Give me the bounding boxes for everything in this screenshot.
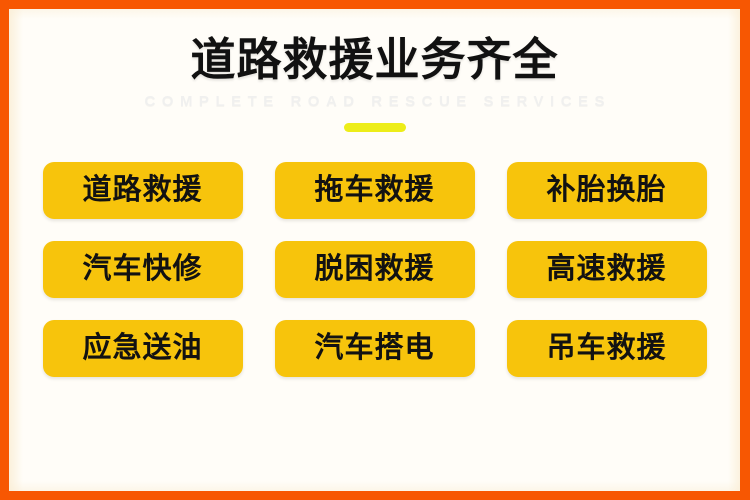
header: 道路救援业务齐全 COMPLETE ROAD RESCUE SERVICES <box>9 9 740 132</box>
service-label: 汽车搭电 <box>314 334 434 363</box>
service-button-tire-repair[interactable]: 补胎换胎 <box>507 162 707 219</box>
service-button-quick-repair[interactable]: 汽车快修 <box>43 241 243 298</box>
poster-content: 道路救援业务齐全 COMPLETE ROAD RESCUE SERVICES 道… <box>9 9 740 491</box>
service-button-towing[interactable]: 拖车救援 <box>275 162 475 219</box>
service-label: 吊车救援 <box>546 334 666 363</box>
service-label: 高速救援 <box>546 255 666 284</box>
service-button-extraction[interactable]: 脱困救援 <box>275 241 475 298</box>
service-button-road-rescue[interactable]: 道路救援 <box>43 162 243 219</box>
service-grid: 道路救援 拖车救援 补胎换胎 汽车快修 脱困救援 高速救援 应急送油 汽车搭电 <box>43 162 707 377</box>
page-title: 道路救援业务齐全 <box>9 33 740 86</box>
service-button-fuel-delivery[interactable]: 应急送油 <box>43 320 243 377</box>
service-button-jump-start[interactable]: 汽车搭电 <box>275 320 475 377</box>
service-button-highway-rescue[interactable]: 高速救援 <box>507 241 707 298</box>
service-label: 应急送油 <box>82 334 202 363</box>
accent-divider <box>344 123 406 132</box>
service-button-crane-rescue[interactable]: 吊车救援 <box>507 320 707 377</box>
service-label: 脱困救援 <box>314 255 434 284</box>
poster-frame: 道路救援业务齐全 COMPLETE ROAD RESCUE SERVICES 道… <box>0 0 750 500</box>
service-label: 补胎换胎 <box>546 176 666 205</box>
service-label: 道路救援 <box>82 176 202 205</box>
service-label: 拖车救援 <box>314 176 434 205</box>
page-subtitle: COMPLETE ROAD RESCUE SERVICES <box>9 94 740 111</box>
service-label: 汽车快修 <box>82 255 202 284</box>
